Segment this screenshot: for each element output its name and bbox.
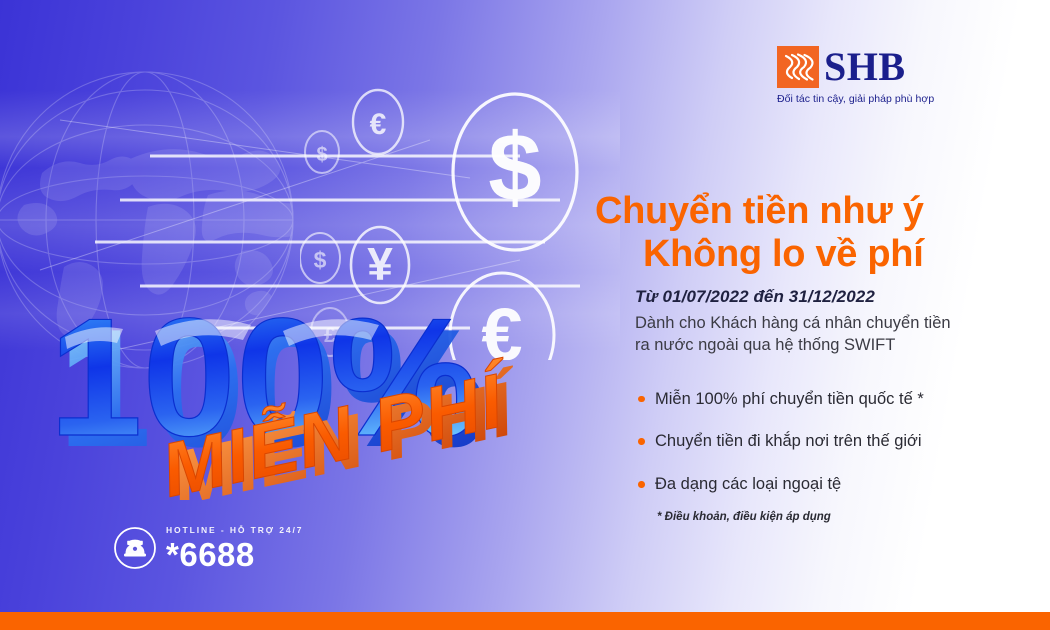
hotline-badge[interactable]: HOTLINE - HỖ TRỢ 24/7 *6688 <box>113 526 303 571</box>
promo-copy: Chuyển tiền như ý Không lo về phí Từ 01/… <box>595 190 1025 523</box>
hotline-number: *6688 <box>166 538 303 571</box>
svg-text:$: $ <box>316 144 327 166</box>
description-line-1: Dành cho Khách hàng cá nhân chuyển tiền <box>635 313 1025 335</box>
benefit-text: Miễn 100% phí chuyển tiền quốc tế * <box>655 390 924 408</box>
date-range: Từ 01/07/2022 đến 31/12/2022 <box>635 287 1025 307</box>
bullet-dot-icon <box>638 396 645 403</box>
benefit-text: Chuyển tiền đi khắp nơi trên thế giới <box>655 432 922 450</box>
telephone-icon <box>113 526 157 570</box>
benefit-list: Miễn 100% phí chuyển tiền quốc tế * Chuy… <box>638 389 1025 495</box>
hero-100-percent-free-graphic: 100% 100% MIỄN PHÍ MIỄN PHÍ <box>35 285 580 500</box>
hotline-label: HOTLINE - HỖ TRỢ 24/7 <box>166 526 303 535</box>
svg-text:$: $ <box>314 247 327 273</box>
bullet-dot-icon <box>638 481 645 488</box>
svg-text:¥: ¥ <box>367 238 393 290</box>
shb-logo[interactable]: SHB Đối tác tin cậy, giải pháp phù hợp <box>777 46 949 106</box>
headline-line-2: Không lo về phí <box>595 233 1025 276</box>
list-item: Miễn 100% phí chuyển tiền quốc tế * <box>638 389 1025 410</box>
svg-text:$: $ <box>488 114 541 221</box>
description: Dành cho Khách hàng cá nhân chuyển tiền … <box>635 313 1025 357</box>
headline-line-1: Chuyển tiền như ý <box>595 190 1025 233</box>
list-item: Chuyển tiền đi khắp nơi trên thế giới <box>638 431 1025 452</box>
benefit-text: Đa dạng các loại ngoại tệ <box>655 475 841 493</box>
bottom-accent-bar <box>0 612 1050 630</box>
shb-logo-tagline: Đối tác tin cậy, giải pháp phù hợp <box>777 93 949 106</box>
headline: Chuyển tiền như ý Không lo về phí <box>595 190 1025 276</box>
svg-text:€: € <box>370 108 387 141</box>
shb-logo-mark-icon <box>777 46 819 88</box>
description-line-2: ra nước ngoài qua hệ thống SWIFT <box>635 335 1025 357</box>
terms-footnote: * Điều khoản, điều kiện áp dụng <box>657 511 1025 523</box>
shb-logo-text: SHB <box>824 48 906 86</box>
list-item: Đa dạng các loại ngoại tệ <box>638 474 1025 495</box>
promo-banner: € $ $ ¥ £ $ € <box>0 0 1050 630</box>
bullet-dot-icon <box>638 438 645 445</box>
